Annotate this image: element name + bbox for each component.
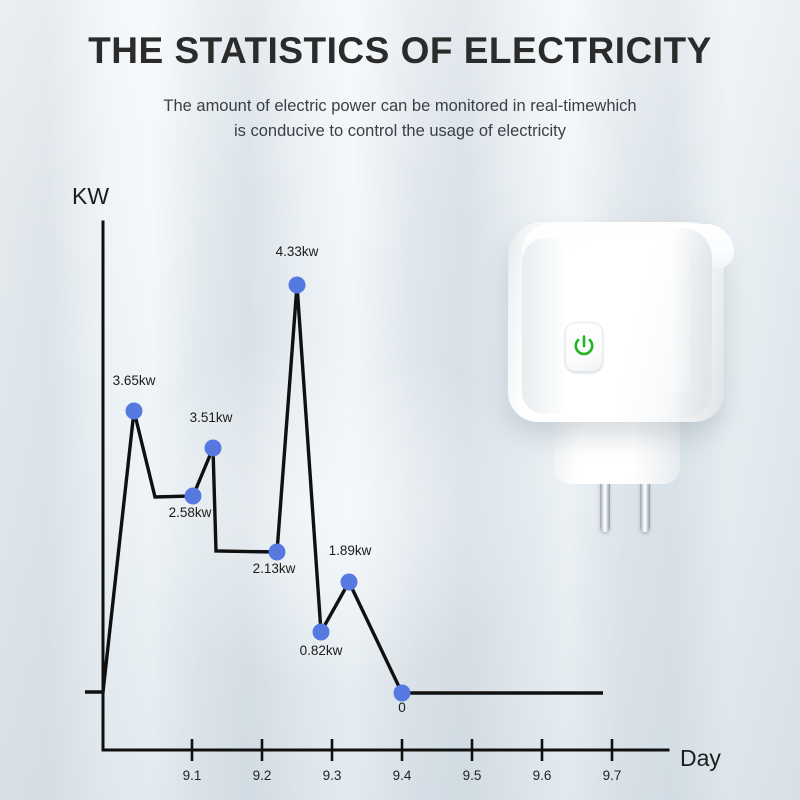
data-point-label: 2.13kw <box>253 561 296 576</box>
data-point-marker[interactable] <box>394 685 411 702</box>
x-axis-label: Day <box>680 745 721 772</box>
data-point-label: 2.58kw <box>169 505 212 520</box>
power-icon <box>573 335 595 359</box>
x-tick-label: 9.2 <box>253 768 272 783</box>
data-point-label: 0.82kw <box>300 643 343 658</box>
data-point-label: 1.89kw <box>329 543 372 558</box>
plug-neck <box>554 414 680 484</box>
data-point-marker[interactable] <box>289 277 306 294</box>
x-tick-label: 9.5 <box>463 768 482 783</box>
data-point-markers <box>126 277 411 702</box>
x-tick-label: 9.3 <box>323 768 342 783</box>
x-tick-label: 9.6 <box>533 768 552 783</box>
data-point-marker[interactable] <box>185 488 202 505</box>
plug-right-shade <box>672 228 712 418</box>
plug-body <box>508 222 724 422</box>
data-point-marker[interactable] <box>313 624 330 641</box>
data-point-label: 3.65kw <box>113 373 156 388</box>
data-point-marker[interactable] <box>126 403 143 420</box>
data-point-marker[interactable] <box>205 440 222 457</box>
data-point-marker[interactable] <box>269 544 286 561</box>
data-point-label: 3.51kw <box>190 410 233 425</box>
x-tick-label: 9.4 <box>393 768 412 783</box>
x-tick-label: 9.7 <box>603 768 622 783</box>
data-point-label: 0 <box>398 700 406 715</box>
data-point-label: 4.33kw <box>276 244 319 259</box>
x-tick-label: 9.1 <box>183 768 202 783</box>
page-root: THE STATISTICS OF ELECTRICITY The amount… <box>0 0 800 800</box>
plug-left-edge <box>522 238 568 414</box>
smart-plug-image <box>496 222 746 572</box>
y-axis-label: KW <box>72 183 109 210</box>
power-button[interactable] <box>565 322 603 372</box>
data-point-marker[interactable] <box>341 574 358 591</box>
